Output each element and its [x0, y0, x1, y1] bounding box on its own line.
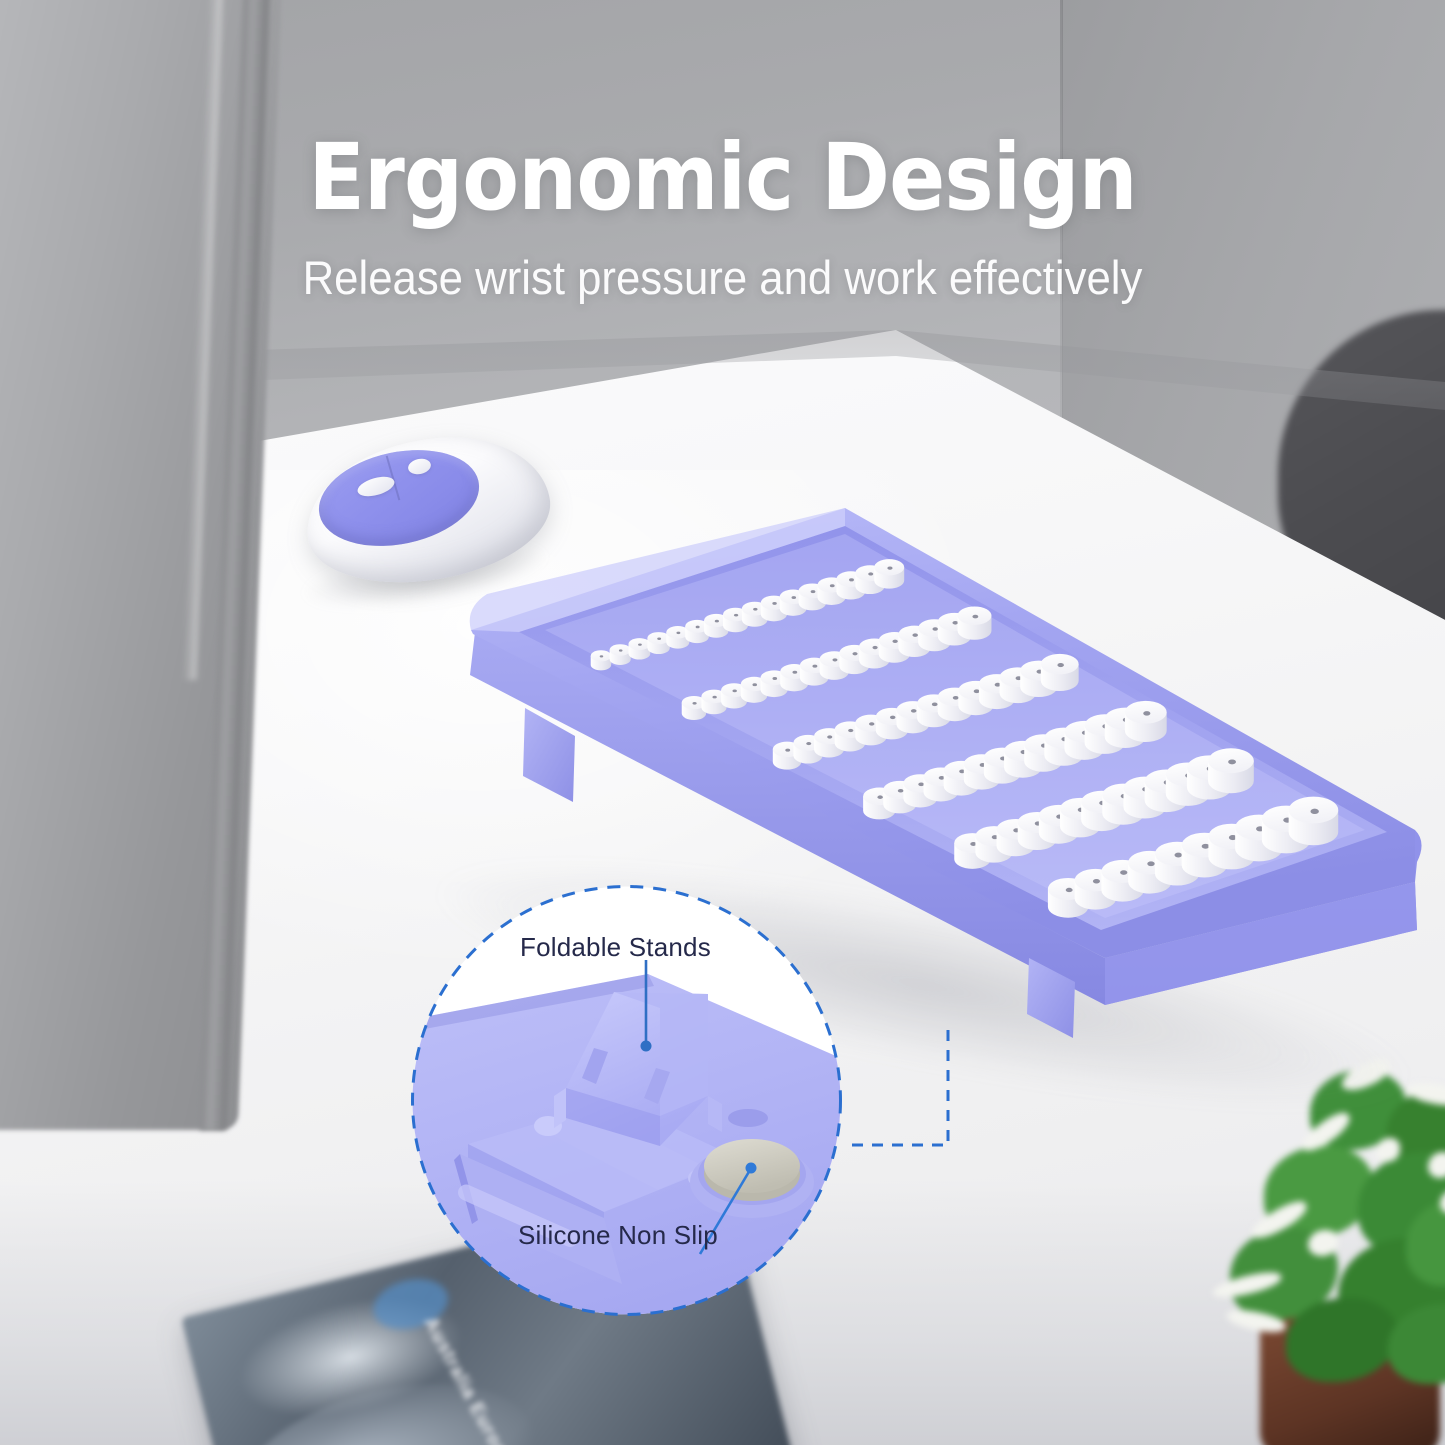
keycap-legend [811, 590, 816, 593]
keycap-legend [918, 782, 924, 786]
keyboard-right-bezel [1415, 830, 1422, 882]
keycap-legend [952, 621, 958, 625]
keycap-legend [972, 615, 978, 619]
keycap-legend [753, 608, 757, 611]
keycap-legend [1147, 861, 1154, 866]
keycap-legend [1066, 888, 1073, 892]
keycap-legend [898, 789, 904, 793]
keycap-legend [785, 749, 790, 752]
keycap-legend [869, 722, 874, 725]
keycap-legend [676, 632, 680, 634]
keycap [629, 638, 651, 659]
keycap-legend [1120, 870, 1127, 875]
keycap-legend [887, 566, 892, 569]
callout-label-silicone-non-slip: Silicone Non Slip [518, 1220, 718, 1251]
keycap [591, 650, 611, 670]
keycap-legend [1228, 759, 1236, 764]
keycap-legend [772, 677, 777, 680]
keycap-legend [892, 640, 897, 643]
keycap [1208, 748, 1254, 793]
keycap-legend [812, 665, 817, 668]
feature-callout: Foldable Stands Silicone Non Slip [408, 882, 845, 1319]
keycap-legend [849, 578, 854, 581]
keycap-legend [832, 658, 837, 661]
keycap-legend [1143, 711, 1150, 716]
keycap-legend [732, 689, 736, 692]
keycap [610, 644, 631, 665]
keycap-legend [848, 729, 853, 732]
keycap-legend [712, 696, 716, 699]
keycap-legend [852, 652, 857, 655]
keycap-legend [792, 596, 797, 599]
keycap-legend [830, 584, 835, 587]
callout-label-foldable-stands: Foldable Stands [520, 932, 711, 963]
leader-dot-silicone [746, 1163, 757, 1174]
keycap-legend [872, 646, 877, 649]
keycap-legend [911, 709, 917, 713]
keycap-legend [1310, 809, 1318, 814]
keycap-legend [600, 655, 603, 657]
underside-notch [728, 1109, 768, 1127]
keycap-legend [657, 638, 661, 640]
keycap-legend [868, 572, 873, 575]
product-image-canvas: Australia Europe Ergonomic Design Releas… [0, 0, 1445, 1445]
keycap-legend [877, 795, 883, 799]
keycap [1125, 701, 1167, 742]
page-title: Ergonomic Design [72, 132, 1373, 224]
keycap-legend [806, 742, 811, 745]
keycap-legend [953, 696, 959, 700]
keycap-legend [890, 716, 895, 719]
keycap-legend [715, 620, 719, 623]
keycap [874, 559, 904, 588]
keycap [1289, 797, 1339, 846]
keycap-legend [827, 735, 832, 738]
keycap-legend [692, 702, 696, 705]
keycap-legend [932, 627, 938, 631]
keycap-legend [638, 643, 642, 645]
leader-dot-foldable [641, 1041, 652, 1052]
keycap-legend [932, 703, 938, 707]
keycap-legend [696, 626, 700, 629]
keycap-legend [1093, 879, 1100, 883]
keycap-legend [772, 602, 776, 605]
keycap-legend [619, 649, 623, 651]
keycap-legend [734, 614, 738, 617]
keycap-legend [1057, 663, 1063, 667]
page-subtitle: Release wrist pressure and work effectiv… [51, 250, 1395, 305]
keycap-legend [752, 683, 757, 686]
keycap-legend [974, 689, 980, 693]
keycap [958, 606, 992, 639]
keycap-legend [912, 633, 917, 636]
keycap-legend [1175, 853, 1183, 858]
keycap-legend [1202, 844, 1210, 849]
keycap [1041, 654, 1079, 691]
keycap-legend [792, 671, 797, 674]
